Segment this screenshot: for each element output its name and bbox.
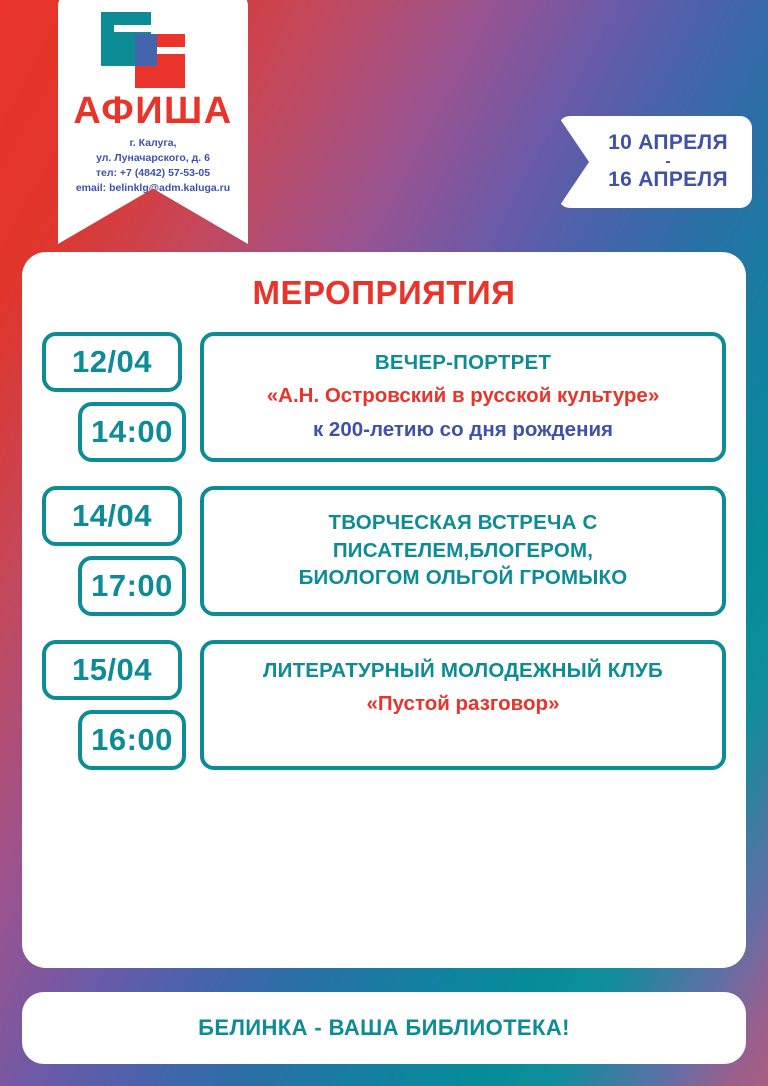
footer-slogan: БЕЛИНКА - ВАША БИБЛИОТЕКА!: [198, 1015, 570, 1041]
event-row: 14/04 17:00 ТВОРЧЕСКАЯ ВСТРЕЧА С ПИСАТЕЛ…: [42, 484, 726, 618]
event-description-box: ВЕЧЕР-ПОРТРЕТ «А.Н. Островский в русской…: [200, 332, 726, 462]
logo-wordmark: АФИША: [58, 92, 248, 130]
event-1-chips: 12/04 14:00: [42, 330, 212, 464]
date-range-end: 16 АПРЕЛЯ: [608, 169, 728, 192]
event-row: 15/04 16:00 ЛИТЕРАТУРНЫЙ МОЛОДЕЖНЫЙ КЛУБ…: [42, 638, 726, 772]
event-2-chips: 14/04 17:00: [42, 484, 212, 618]
event-title-line: ВЕЧЕР-ПОРТРЕТ: [375, 350, 551, 377]
event-date-chip: 14/04: [42, 486, 182, 546]
poster-root: АФИША г. Калуга, ул. Луначарского, д. 6 …: [0, 0, 768, 1086]
contact-phone: тел: +7 (4842) 57-53-05: [64, 166, 242, 181]
event-note-line: БИОЛОГОМ ОЛЬГОЙ ГРОМЫКО: [299, 565, 628, 592]
logo-ribbon: АФИША г. Калуга, ул. Луначарского, д. 6 …: [58, 0, 248, 244]
event-time-chip: 17:00: [78, 556, 186, 616]
event-description-box: ЛИТЕРАТУРНЫЙ МОЛОДЕЖНЫЙ КЛУБ «Пустой раз…: [200, 640, 726, 770]
event-subtitle-line: ПИСАТЕЛЕМ,БЛОГЕРОМ,: [333, 538, 593, 565]
event-time-chip: 14:00: [78, 402, 186, 462]
event-row: 12/04 14:00 ВЕЧЕР-ПОРТРЕТ «А.Н. Островск…: [42, 330, 726, 464]
contact-email: email: belinklg@adm.kaluga.ru: [64, 181, 242, 196]
event-note-line: к 200-летию со дня рождения: [313, 417, 613, 444]
date-range-separator: -: [665, 155, 670, 169]
footer-card: БЕЛИНКА - ВАША БИБЛИОТЕКА!: [22, 992, 746, 1064]
events-card: МЕРОПРИЯТИЯ 12/04 14:00 ВЕЧЕР-ПОРТРЕТ «А…: [22, 252, 746, 968]
event-time-chip: 16:00: [78, 710, 186, 770]
logo-overlap-shape: [135, 34, 157, 66]
library-logo-icon: [101, 12, 205, 88]
contact-street: ул. Луначарского, д. 6: [64, 151, 242, 166]
event-title-line: ЛИТЕРАТУРНЫЙ МОЛОДЕЖНЫЙ КЛУБ: [263, 658, 663, 685]
event-title-line: ТВОРЧЕСКАЯ ВСТРЕЧА С: [329, 510, 598, 537]
event-3-chips: 15/04 16:00: [42, 638, 212, 772]
date-range-badge: 10 АПРЕЛЯ - 16 АПРЕЛЯ: [558, 116, 752, 208]
event-date-chip: 12/04: [42, 332, 182, 392]
event-date-chip: 15/04: [42, 640, 182, 700]
contact-block: г. Калуга, ул. Луначарского, д. 6 тел: +…: [58, 136, 248, 196]
event-subtitle-line: «А.Н. Островский в русской культуре»: [267, 383, 659, 410]
date-range-start: 10 АПРЕЛЯ: [608, 132, 728, 155]
contact-city: г. Калуга,: [64, 136, 242, 151]
page-title: МЕРОПРИЯТИЯ: [22, 274, 746, 312]
event-subtitle-line: «Пустой разговор»: [367, 691, 560, 718]
event-description-box: ТВОРЧЕСКАЯ ВСТРЕЧА С ПИСАТЕЛЕМ,БЛОГЕРОМ,…: [200, 486, 726, 616]
